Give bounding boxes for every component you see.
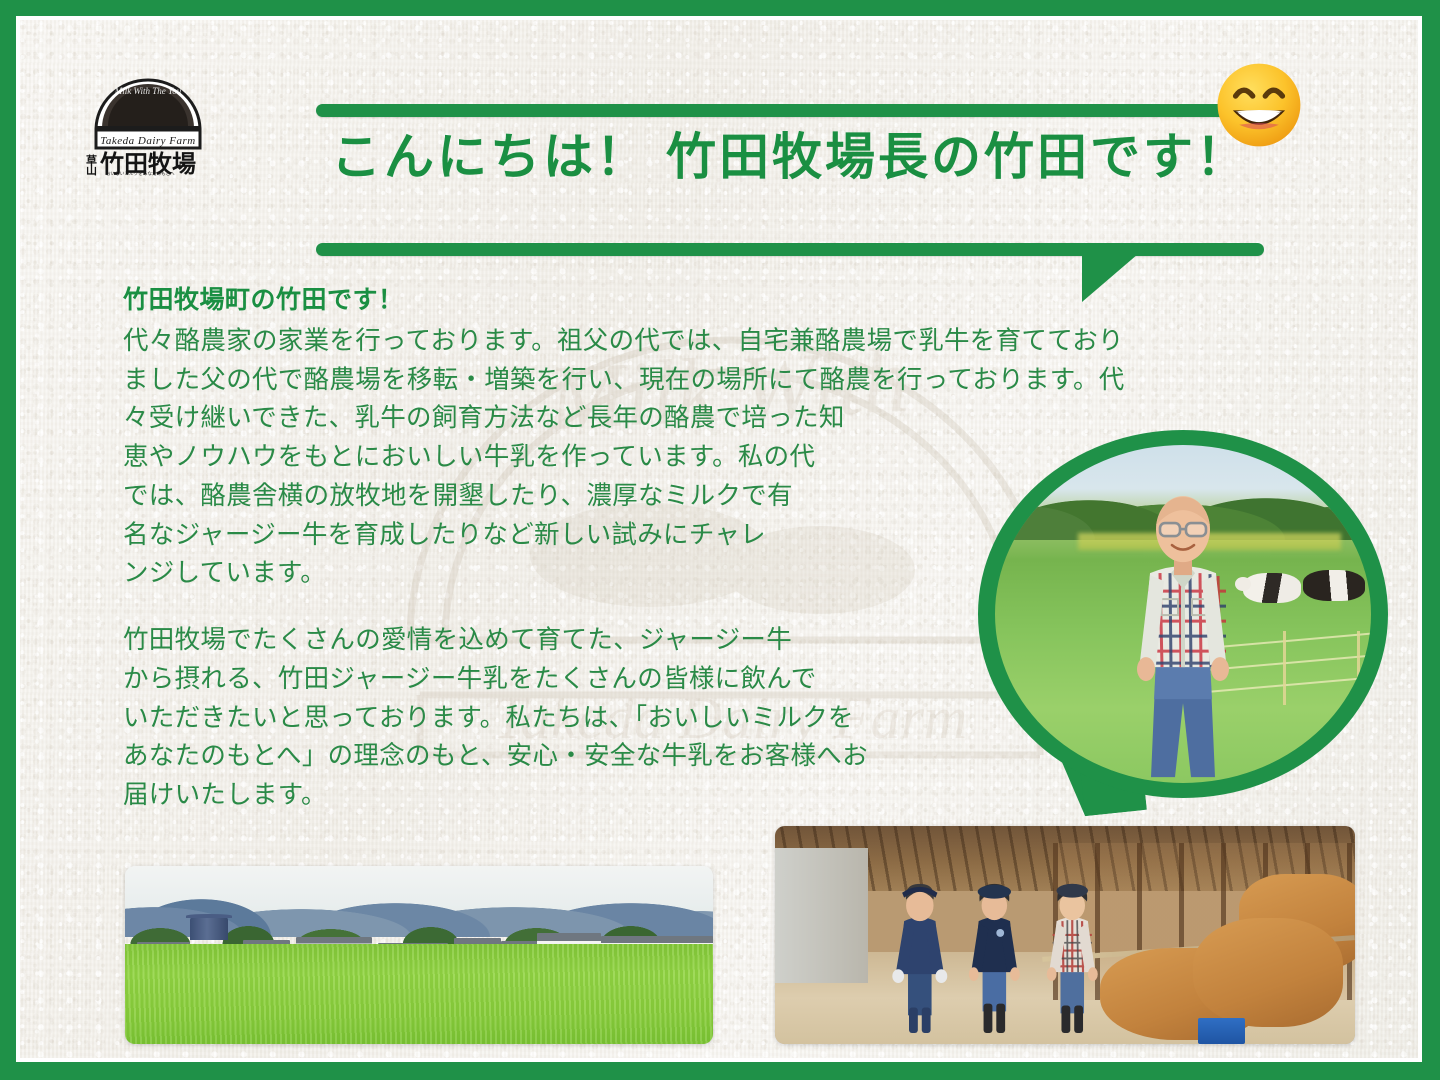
body-lead: 竹田牧場町の竹田です！ [123,284,1361,318]
body-line: ました父の代で酪農場を移転・増築を行い、現在の場所にて酪農を行っております。代 [123,361,1361,400]
rice-field [125,944,713,1044]
farm-landscape-photo [125,866,713,1044]
staff-figure [961,878,1028,1035]
staff-figure [885,878,955,1035]
farmer-figure [1108,479,1258,783]
paper-canvas: Milk With Takeda Dairy Farm [20,20,1418,1058]
inner-white-gap: Milk With Takeda Dairy Farm [16,16,1422,1062]
portrait-photo [995,445,1371,783]
barn-staff-photo [775,826,1355,1044]
barn-wall [775,848,868,983]
svg-text:山: 山 [86,163,97,176]
farm-manager-portrait [978,430,1388,798]
svg-text:Takeda Dairy Farm: Takeda Dairy Farm [100,135,195,147]
silo [190,917,228,940]
banner-top-rule [316,104,1264,117]
grinning-face-icon [1214,60,1304,150]
pasture-background [995,445,1371,783]
staff-figure [1036,878,1109,1035]
page-frame: Milk With Takeda Dairy Farm [0,0,1440,1080]
barn-interior [775,826,1355,1044]
jersey-cow-icon [1193,918,1344,1027]
blue-bucket [1198,1018,1244,1044]
cow-icon [1303,570,1365,601]
svg-text:Milk With The You: Milk With The You [114,86,182,96]
takeda-dairy-farm-logo: Milk With The You Takeda Dairy Farm 草 山 … [78,54,246,176]
body-line: 代々酪農家の家業を行っております。祖父の代では、自宅兼酪農場で乳牛を育てており [123,322,1361,361]
page-title: こんにちは！ 竹田牧場長の竹田です！ [316,132,1264,182]
banner-tail-icon [1082,254,1138,302]
header-banner: こんにちは！ 竹田牧場長の竹田です！ [316,104,1264,256]
